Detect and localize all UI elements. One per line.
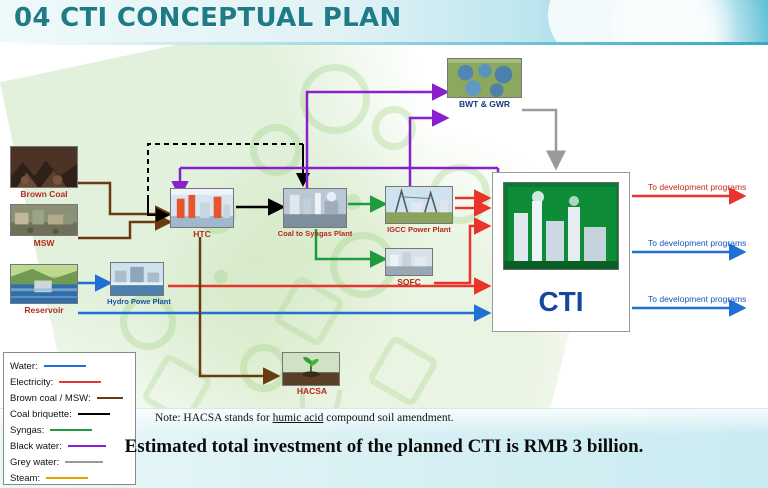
- output-label-3: To development programs: [648, 294, 746, 304]
- legend-item: Electricity:: [10, 374, 129, 390]
- output-label-1: To development programs: [648, 182, 746, 192]
- legend-box: Water: Electricity: Brown coal / MSW: Co…: [3, 352, 136, 485]
- node-sofc[interactable]: [385, 248, 433, 276]
- node-msw-label: MSW: [14, 238, 74, 248]
- legend-swatch-steam: [46, 477, 88, 479]
- legend-label: Electricity:: [10, 377, 53, 388]
- node-hacsa[interactable]: [282, 352, 340, 386]
- node-igcc-power-plant[interactable]: [385, 186, 453, 224]
- node-hydro-power-plant[interactable]: [110, 262, 164, 296]
- node-hacsa-label: HACSA: [286, 386, 338, 396]
- legend-label: Brown coal / MSW:: [10, 393, 91, 404]
- node-hydro-power-plant-label: Hydro Powe Plant: [104, 297, 174, 306]
- legend-label: Grey water:: [10, 457, 59, 468]
- legend-label: Coal briquette:: [10, 409, 72, 420]
- legend-swatch-coal-briquette: [78, 413, 110, 415]
- legend-swatch-grey-water: [65, 461, 103, 463]
- node-coal-to-syngas-plant-label: Coal to Syngas Plant: [276, 229, 354, 238]
- node-bwt-gwr[interactable]: [447, 58, 522, 98]
- node-bwt-gwr-label: BWT & GWR: [447, 99, 522, 109]
- legend-swatch-electricity: [59, 381, 101, 383]
- footer-note-underlined: humic acid: [273, 412, 324, 424]
- node-brown-coal[interactable]: [10, 146, 78, 188]
- node-htc-label: HTC: [172, 229, 232, 239]
- legend-item: Water:: [10, 358, 129, 374]
- legend-label: Steam:: [10, 473, 40, 484]
- legend-item: Steam:: [10, 470, 129, 486]
- output-label-2: To development programs: [648, 238, 746, 248]
- legend-label: Water:: [10, 361, 38, 372]
- legend-swatch-syngas: [50, 429, 92, 431]
- slide-canvas: Brown Coal MSW Reservoir: [0, 0, 768, 488]
- node-reservoir[interactable]: [10, 264, 78, 304]
- legend-swatch-brown-coal-msw: [97, 397, 123, 399]
- legend-item: Coal briquette:: [10, 406, 129, 422]
- page-title: 04 CTI CONCEPTUAL PLAN: [14, 3, 402, 33]
- node-brown-coal-label: Brown Coal: [6, 189, 82, 199]
- legend-swatch-water: [44, 365, 86, 367]
- node-cti-image: [503, 182, 619, 270]
- footer-note-prefix: Note: HACSA stands for: [155, 412, 273, 424]
- node-coal-to-syngas-plant[interactable]: [283, 188, 347, 228]
- legend-item: Brown coal / MSW:: [10, 390, 129, 406]
- header-divider: [0, 42, 768, 45]
- legend-label: Syngas:: [10, 425, 44, 436]
- node-htc[interactable]: [170, 188, 234, 228]
- node-reservoir-label: Reservoir: [8, 305, 80, 315]
- investment-statement: Estimated total investment of the planne…: [0, 436, 768, 458]
- node-cti-label: CTI: [492, 286, 630, 318]
- footer-note-suffix: compound soil amendment.: [323, 412, 453, 424]
- node-sofc-label: SOFC: [385, 277, 433, 287]
- node-igcc-power-plant-label: IGCC Power Plant: [380, 225, 458, 234]
- footer-note: Note: HACSA stands for humic acid compou…: [155, 412, 454, 424]
- node-msw[interactable]: [10, 204, 78, 236]
